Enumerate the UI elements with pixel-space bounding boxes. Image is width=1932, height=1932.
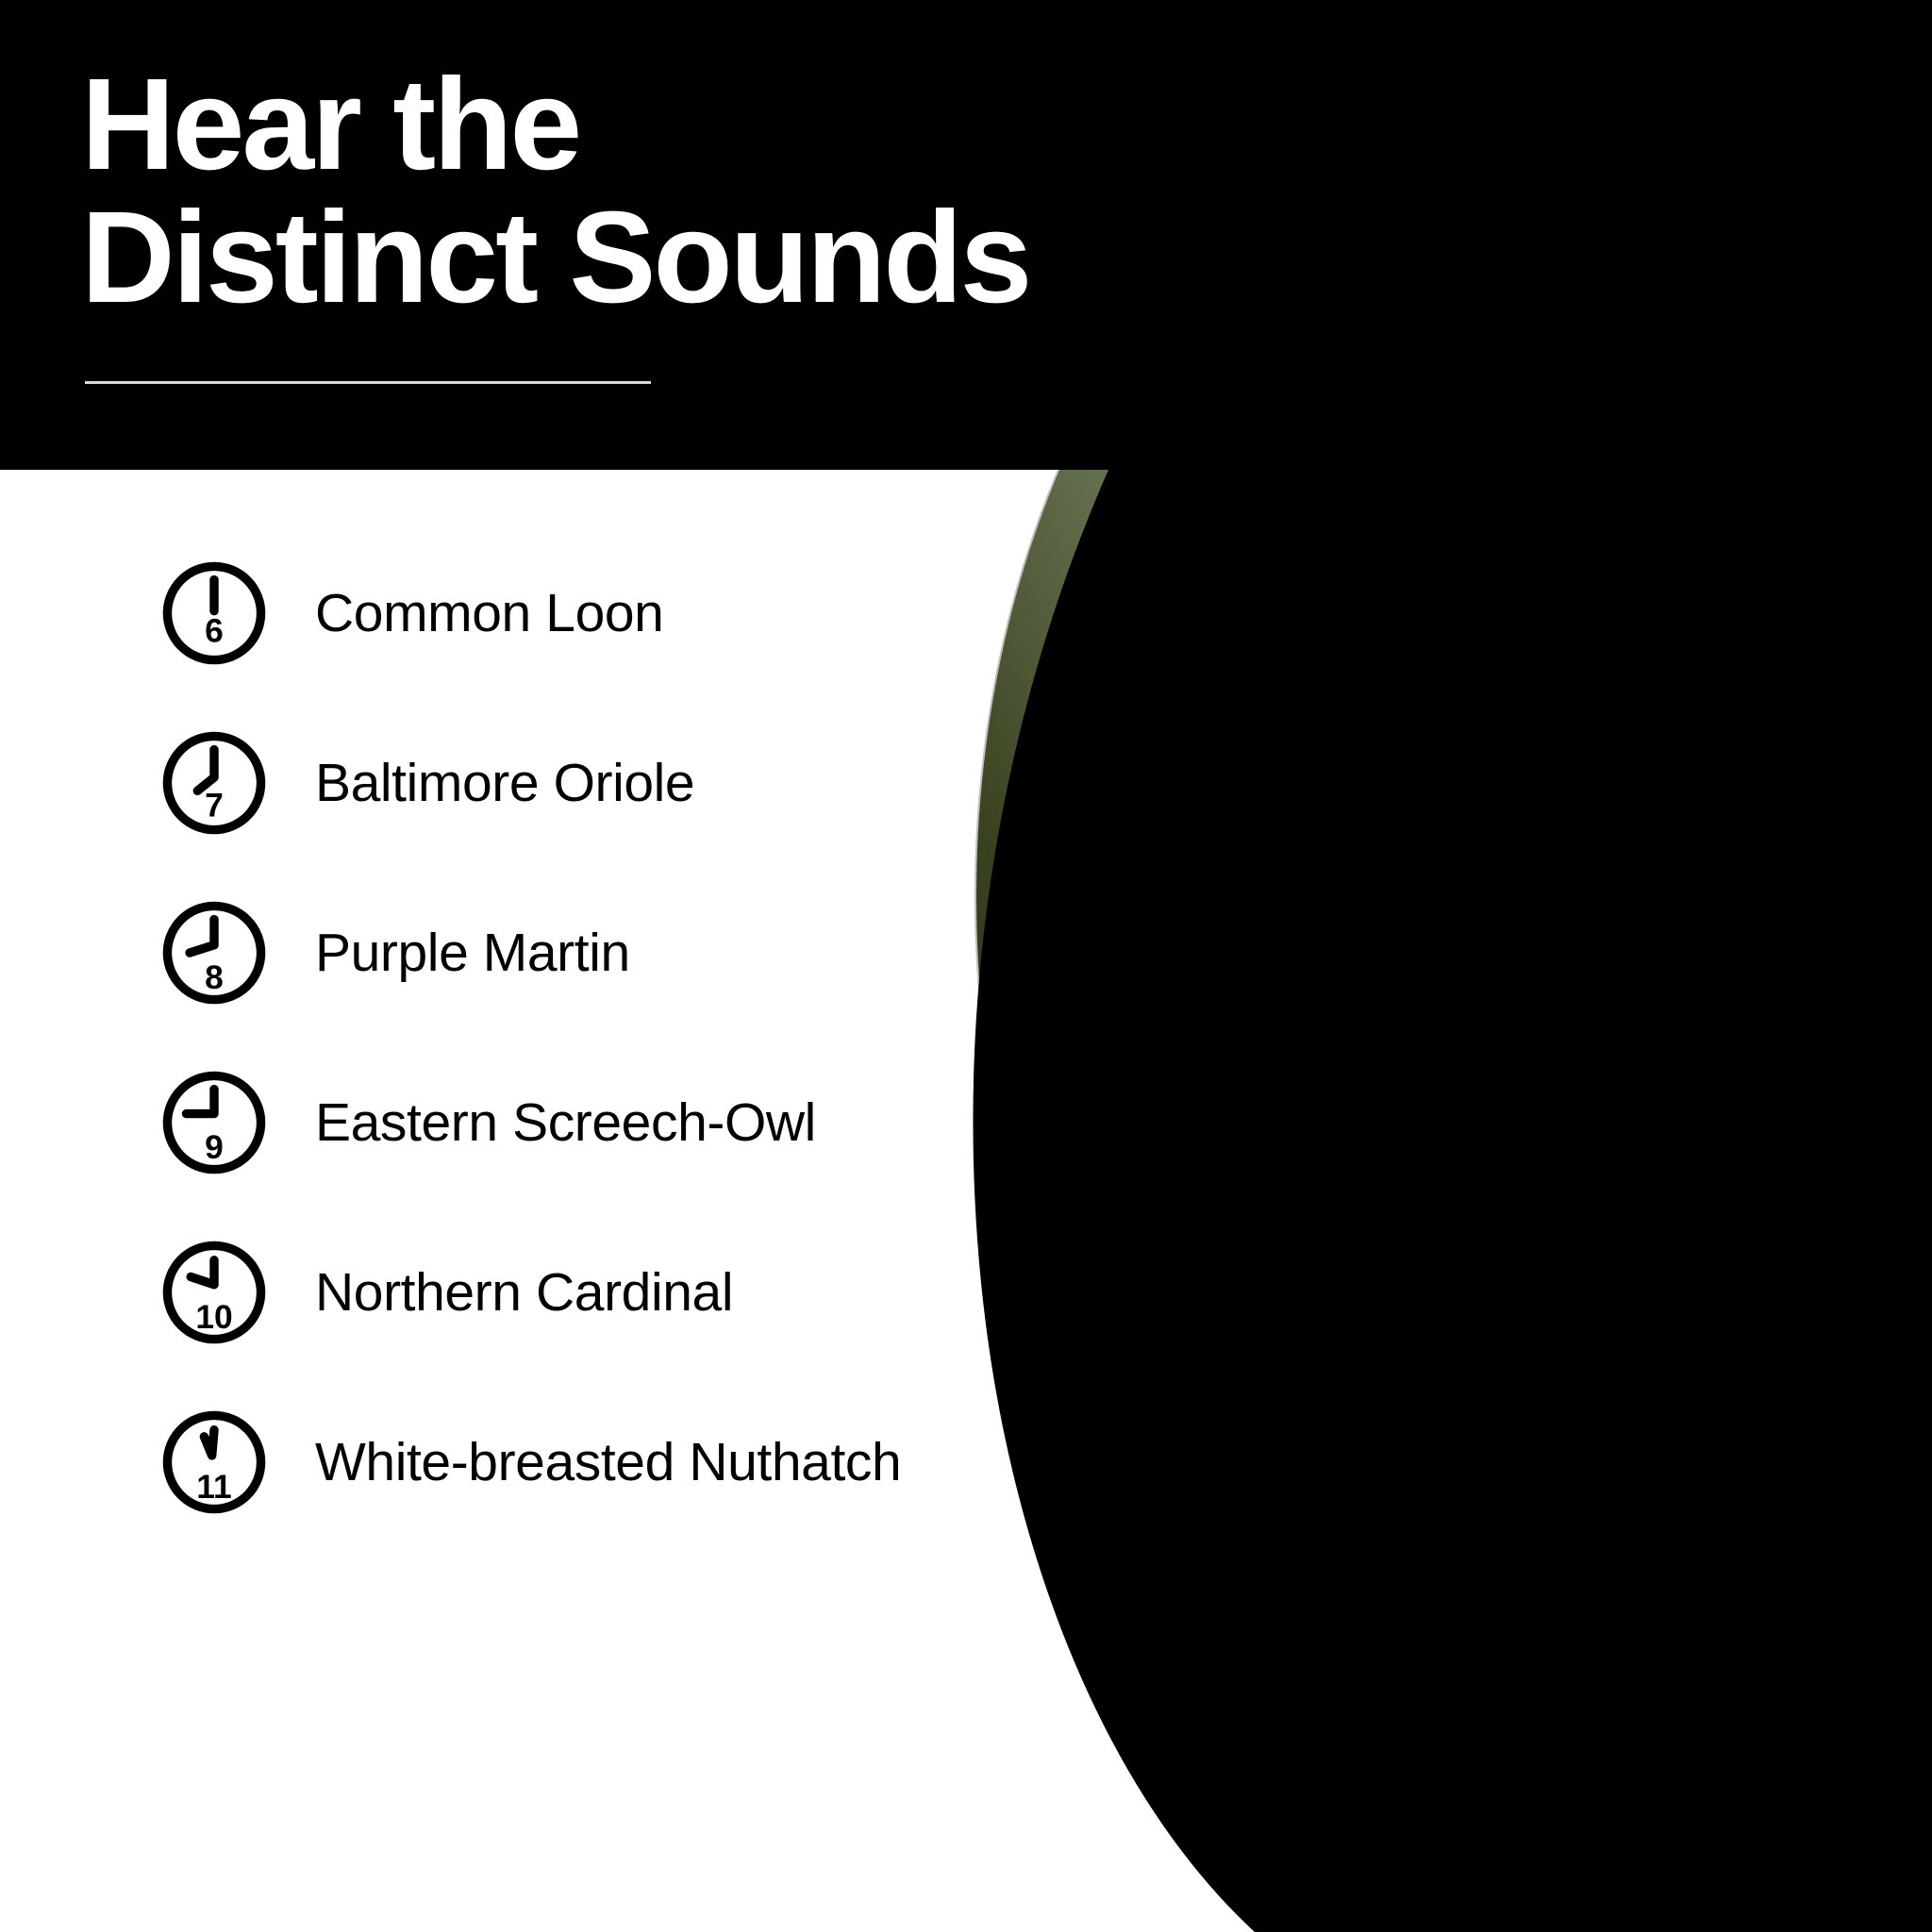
clock-11-hour-text: 11 (196, 1469, 231, 1506)
list-item[interactable]: 7 Baltimore Oriole (0, 698, 943, 868)
clock-7-hour-text: 7 (205, 787, 224, 824)
list-item-label: Eastern Screech-Owl (315, 1091, 816, 1154)
list-item[interactable]: 9 Eastern Screech-Owl (0, 1038, 943, 1207)
list-item-label: Purple Martin (315, 922, 630, 984)
clock-10-icon: 10 (158, 1237, 270, 1348)
clock-11-icon: 11 (158, 1407, 270, 1518)
clock-6-hour-text: 6 (205, 613, 224, 650)
clock-10-hour-text: 10 (195, 1299, 232, 1336)
list-item[interactable]: 10 Northern Cardinal (0, 1207, 943, 1377)
promo-card: White-breasted Nuthatch Northern Cardina… (0, 0, 1932, 1932)
list-item-label: Common Loon (315, 582, 663, 644)
clock-9-hour-text: 9 (205, 1129, 224, 1166)
bird-sound-list: 6 Common Loon 7 Baltimore Oriole 8 (0, 528, 943, 1547)
clock-6-icon: 6 (158, 558, 270, 669)
list-item[interactable]: 8 Purple Martin (0, 868, 943, 1038)
clock-8-hour-text: 8 (205, 959, 224, 996)
title-divider (85, 381, 651, 384)
list-item[interactable]: 11 White-breasted Nuthatch (0, 1377, 943, 1547)
page-title: Hear the Distinct Sounds (81, 58, 1029, 325)
list-item-label: Baltimore Oriole (315, 752, 694, 814)
clock-7-icon: 7 (158, 727, 270, 839)
clock-8-icon: 8 (158, 897, 270, 1008)
list-item-label: Northern Cardinal (315, 1261, 733, 1324)
list-item-label: White-breasted Nuthatch (315, 1431, 901, 1493)
list-item[interactable]: 6 Common Loon (0, 528, 943, 698)
clock-9-icon: 9 (158, 1067, 270, 1178)
